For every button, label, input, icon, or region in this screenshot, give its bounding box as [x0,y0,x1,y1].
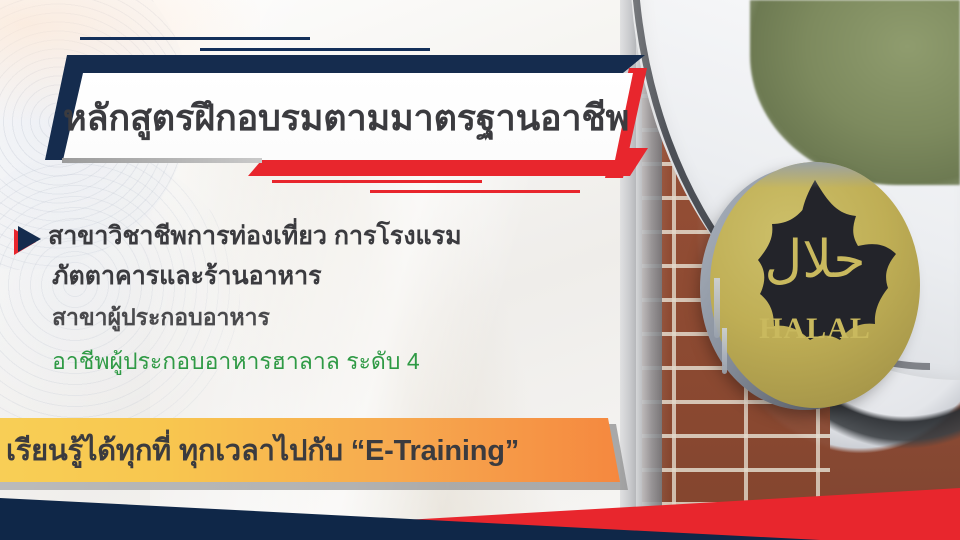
halal-sign-face: حلال HALAL [710,162,920,408]
paint-drip-1 [714,278,720,338]
halal-latin-text: HALAL [710,312,920,346]
slide-canvas: หลักสูตรฝึกอบรมตามมาตรฐานอาชีพ สาขาวิชาช… [0,0,960,540]
title-red-line-2 [370,190,580,193]
triangle-navy [18,226,41,252]
bullet-line-3: สาขาผู้ประกอบอาหาร [52,300,594,336]
bullet-row: สาขาวิชาชีพการท่องเที่ยว การโรงแรม [14,222,594,260]
page-title: หลักสูตรฝึกอบรมตามมาตรฐานอาชีพ [63,82,623,152]
bullet-line-1: สาขาวิชาชีพการท่องเที่ยว การโรงแรม [48,222,462,250]
bullet-block: สาขาวิชาชีพการท่องเที่ยว การโรงแรม ภัตตา… [14,222,594,380]
title-red-line-1 [272,180,482,183]
footer-banner-text: เรียนรู้ได้ทุกที่ ทุกเวลาไปกับ “E-Traini… [0,427,519,473]
triangle-bullet-icon [14,226,48,260]
header-accent-line-1 [80,37,310,40]
halal-arabic-text: حلال [710,234,920,286]
footer-banner: เรียนรู้ได้ทุกที่ ทุกเวลาไปกับ “E-Traini… [0,418,620,482]
paint-drip-2 [722,328,727,374]
bullet-line-4-highlight: อาชีพผู้ประกอบอาหารฮาลาล ระดับ 4 [52,344,594,380]
title-gray-footer [62,158,262,163]
bullet-line-2: ภัตตาคารและร้านอาหาร [52,262,594,290]
halal-sign: حلال HALAL [700,158,924,420]
header-accent-line-2 [200,48,430,51]
